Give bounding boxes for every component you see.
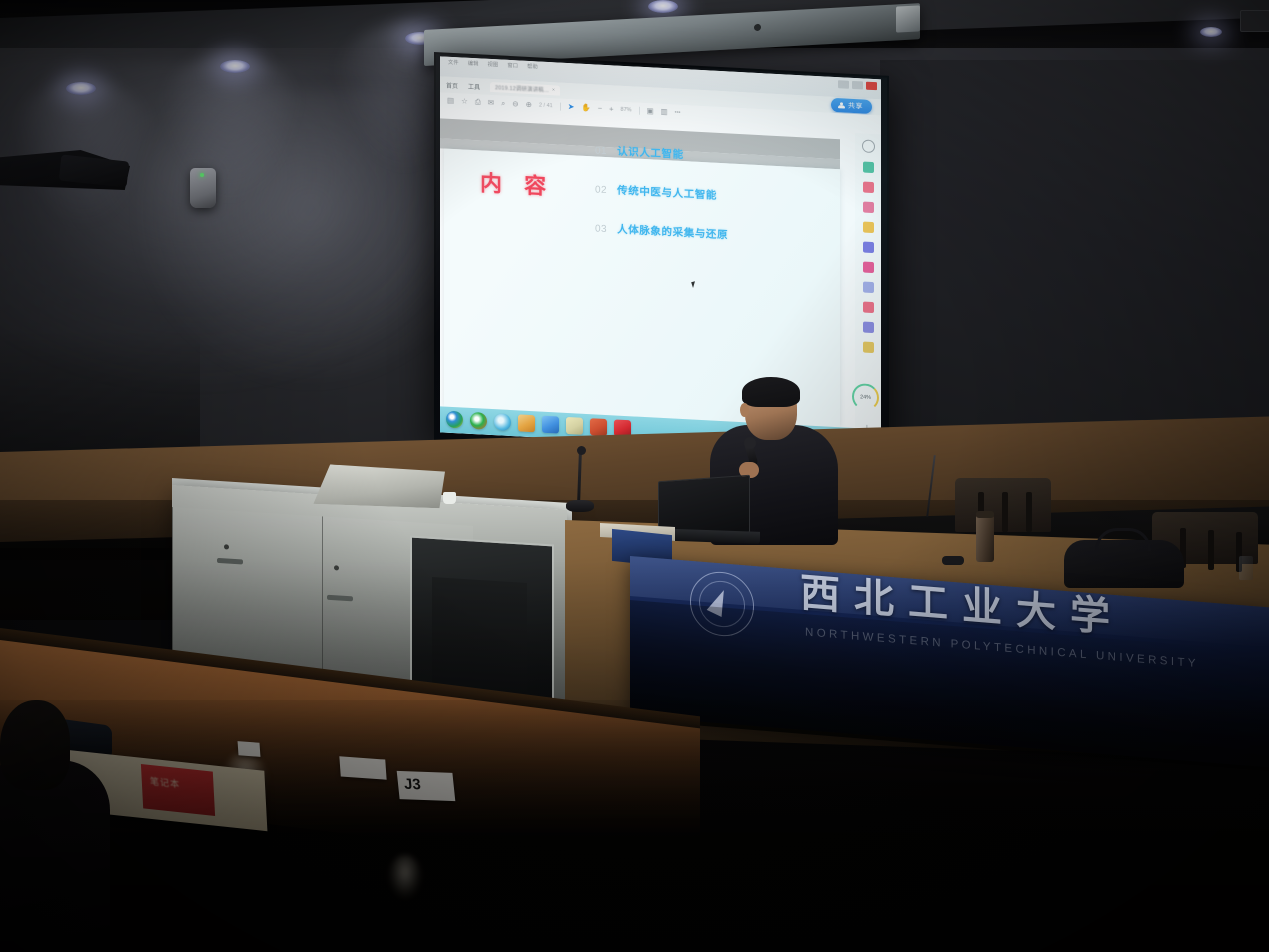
window-controls[interactable]: [838, 80, 877, 90]
taskbar-app-list[interactable]: [446, 411, 631, 438]
small-device: [942, 556, 964, 565]
ceiling-vent: [1240, 10, 1269, 32]
document-tab-label: 2019.12调研演讲稿...: [495, 83, 549, 94]
agenda-number: 01: [595, 145, 607, 157]
document-tab[interactable]: 2019.12调研演讲稿... ×: [490, 82, 560, 96]
sidebar-icon[interactable]: ▤: [447, 96, 454, 105]
print-icon[interactable]: ⎙: [475, 97, 481, 107]
slide-title: 内 容: [480, 165, 554, 201]
share-button[interactable]: 共享: [831, 98, 872, 114]
list-item: 02 传统中医与人工智能: [595, 181, 825, 208]
gauge-value: 24%: [860, 394, 871, 401]
slide-agenda-list: 01 认识人工智能 02 传统中医与人工智能 03 人体脉象的采集与还原: [595, 142, 825, 271]
screen-surface: 文件 编辑 视图 窗口 帮助 ? 登录: [440, 56, 881, 455]
page-down-icon[interactable]: ⊕: [526, 100, 532, 109]
audience-member-head: [0, 700, 70, 790]
layout-icon[interactable]: ▥: [661, 107, 668, 116]
merge-icon[interactable]: [863, 241, 874, 253]
ceiling-downlight: [220, 60, 250, 73]
agenda-number: 03: [595, 223, 607, 235]
person-icon: [838, 102, 845, 109]
wps-icon[interactable]: [542, 416, 559, 434]
presenter-ear: [740, 403, 749, 417]
folder-icon[interactable]: [566, 417, 583, 435]
desk-number-label: J3: [403, 776, 421, 794]
agenda-number: 02: [595, 184, 607, 196]
paper-scrap: [238, 741, 261, 757]
powerpoint-icon[interactable]: [590, 418, 607, 436]
menu-bar[interactable]: 文件 编辑 视图 窗口 帮助: [448, 59, 538, 71]
menu-item-view[interactable]: 视图: [488, 61, 499, 69]
agenda-text: 人体脉象的采集与还原: [617, 222, 728, 243]
browser-360-icon[interactable]: [470, 412, 487, 430]
page-up-icon[interactable]: ⊖: [512, 99, 518, 108]
fit-page-icon[interactable]: ▣: [647, 106, 654, 115]
maximize-button[interactable]: [852, 81, 863, 90]
desk-light-reflection: [388, 855, 422, 899]
ceiling-downlight: [1200, 27, 1222, 37]
drinking-glass: [1239, 556, 1253, 580]
thermos-cap: [976, 511, 994, 518]
file-explorer-icon[interactable]: [518, 414, 535, 432]
zoom-in-icon[interactable]: +: [609, 104, 613, 113]
chair-slat: [1208, 530, 1214, 570]
note-icon[interactable]: [863, 341, 874, 353]
annotate-icon[interactable]: [863, 321, 874, 333]
chrome-icon[interactable]: [446, 411, 463, 429]
microphone-head-icon: [744, 437, 756, 449]
comment-icon[interactable]: [863, 221, 874, 233]
cup: [443, 492, 456, 504]
paper-sheet: [339, 756, 386, 779]
star-icon[interactable]: ☆: [461, 96, 468, 105]
close-icon[interactable]: ×: [552, 87, 555, 93]
speaker-led-icon: [200, 173, 204, 177]
floor-shadow: [0, 700, 1269, 952]
edge-icon[interactable]: [494, 413, 511, 431]
list-item: 03 人体脉象的采集与还原: [595, 220, 825, 247]
microphone-icon: [577, 446, 586, 455]
export-word-icon[interactable]: [863, 161, 874, 173]
agenda-text: 认识人工智能: [617, 144, 684, 162]
share-button-label: 共享: [848, 101, 863, 112]
menu-item-window[interactable]: 窗口: [507, 62, 518, 70]
cabinet-lock-icon: [224, 544, 229, 549]
sign-icon[interactable]: [863, 261, 874, 273]
more-icon[interactable]: •••: [675, 109, 681, 115]
tab-tools[interactable]: 工具: [468, 81, 480, 91]
mail-icon[interactable]: ✉: [488, 98, 494, 107]
menu-item-file[interactable]: 文件: [448, 59, 459, 67]
housing-bracket: [754, 24, 761, 31]
protect-icon[interactable]: [863, 281, 874, 293]
minimize-button[interactable]: [838, 80, 849, 89]
close-button[interactable]: [866, 82, 877, 91]
ceiling-downlight: [66, 82, 96, 95]
chair-slat: [1026, 492, 1032, 532]
agenda-text: 传统中医与人工智能: [617, 183, 717, 203]
lecture-hall-photo: 文件 编辑 视图 窗口 帮助 ? 登录: [0, 0, 1269, 952]
storage-gauge[interactable]: 24%: [852, 383, 879, 411]
toolbar-divider: [639, 106, 640, 114]
menu-item-help[interactable]: 帮助: [527, 63, 538, 71]
toolbar-divider: [560, 102, 561, 110]
export-pdf-icon[interactable]: [863, 181, 874, 193]
hand-icon[interactable]: ✋: [581, 103, 590, 112]
zoom-level[interactable]: 87%: [621, 106, 632, 113]
zoom-out-icon[interactable]: −: [598, 104, 602, 113]
select-cursor-icon[interactable]: ➤: [568, 102, 575, 111]
magnify-icon[interactable]: [862, 139, 875, 153]
downlight-spill: [155, 52, 305, 202]
pdf-reader-window: 文件 编辑 视图 窗口 帮助 ? 登录: [440, 56, 881, 455]
stamp-icon[interactable]: [863, 301, 874, 313]
thermos-bottle: [976, 514, 994, 562]
projection-screen: 文件 编辑 视图 窗口 帮助 ? 登录: [434, 52, 889, 464]
screen-housing-endcap: [896, 5, 920, 32]
tab-home[interactable]: 首页: [446, 80, 458, 90]
compress-icon[interactable]: [863, 201, 874, 213]
menu-item-edit[interactable]: 编辑: [468, 60, 479, 68]
presenter-hair: [742, 377, 800, 407]
desk-microphone-base: [566, 500, 594, 512]
cabinet-lock-icon: [334, 565, 339, 570]
search-icon[interactable]: ⌕: [501, 98, 505, 108]
chair-slat: [1002, 492, 1008, 532]
page-indicator: 2 / 41: [539, 102, 553, 109]
ceiling-downlight: [648, 0, 678, 13]
